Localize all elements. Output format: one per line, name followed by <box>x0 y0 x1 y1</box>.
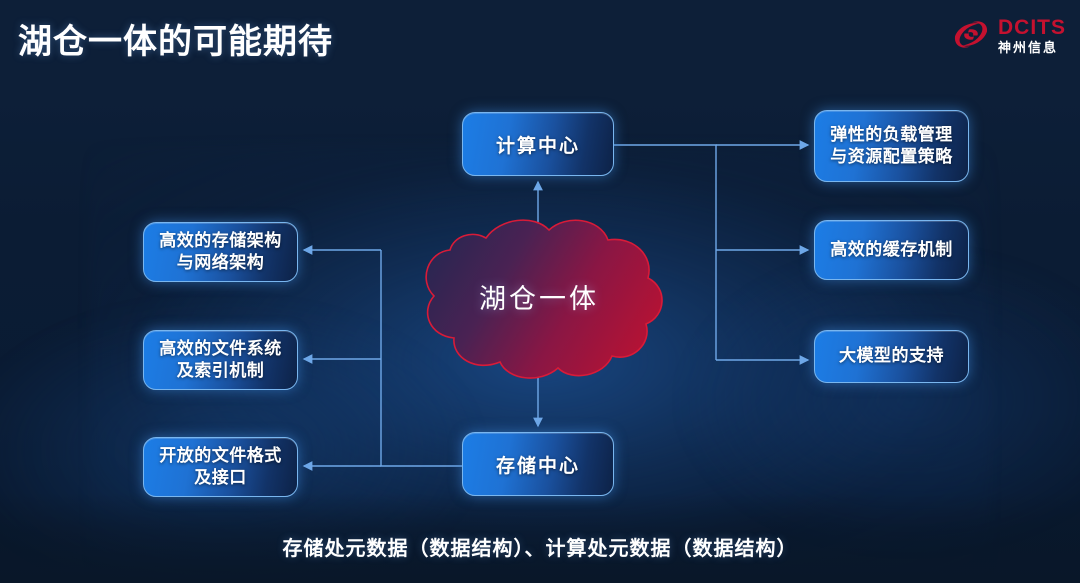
node-compute-center-label: 计算中心 <box>496 131 580 158</box>
node-elastic-load-management[interactable]: 弹性的负载管理与资源配置策略 <box>814 110 969 182</box>
node-compute-center[interactable]: 计算中心 <box>462 112 614 176</box>
footer-caption: 存储处元数据（数据结构）、计算处元数据（数据结构） <box>0 532 1080 561</box>
logo-en-text: DCITS <box>998 17 1066 38</box>
node-large-model-support[interactable]: 大模型的支持 <box>814 330 969 383</box>
node-file-system-index[interactable]: 高效的文件系统及索引机制 <box>143 330 298 390</box>
node-storage-center-label: 存储中心 <box>496 451 580 478</box>
logo-cn-text: 神州信息 <box>998 41 1066 54</box>
node-large-model-support-label: 大模型的支持 <box>839 345 944 367</box>
node-open-file-format[interactable]: 开放的文件格式及接口 <box>143 437 298 497</box>
node-file-system-index-label: 高效的文件系统及索引机制 <box>154 338 287 383</box>
node-storage-architecture-label: 高效的存储架构与网络架构 <box>154 230 287 275</box>
node-open-file-format-label: 开放的文件格式及接口 <box>154 445 287 490</box>
node-cache-mechanism-label: 高效的缓存机制 <box>830 239 953 261</box>
node-elastic-load-management-label: 弹性的负载管理与资源配置策略 <box>825 124 958 169</box>
page-title: 湖仓一体的可能期待 <box>18 14 333 63</box>
cloud-label: 湖仓一体 <box>408 277 670 316</box>
node-storage-center[interactable]: 存储中心 <box>462 432 614 496</box>
central-cloud: 湖仓一体 <box>408 212 670 384</box>
dcits-swoosh-icon <box>950 18 992 52</box>
node-cache-mechanism[interactable]: 高效的缓存机制 <box>814 220 969 280</box>
slide-canvas: 湖仓一体的可能期待 DCITS 神州信息 <box>0 0 1080 583</box>
brand-logo: DCITS 神州信息 <box>950 12 1066 58</box>
node-storage-architecture[interactable]: 高效的存储架构与网络架构 <box>143 222 298 282</box>
